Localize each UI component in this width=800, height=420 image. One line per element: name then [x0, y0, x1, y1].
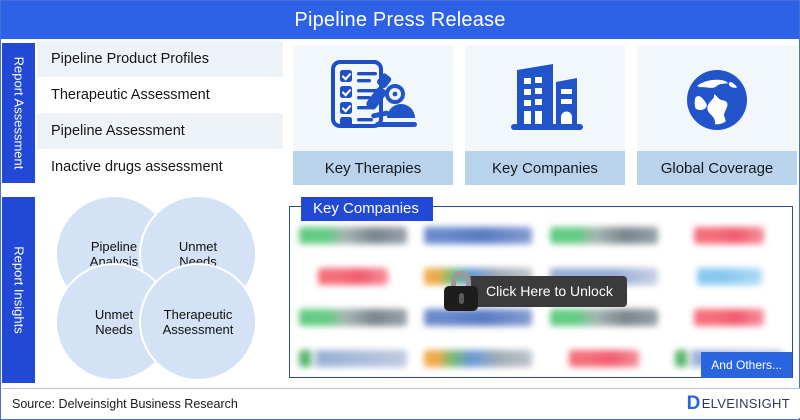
globe-icon [637, 45, 797, 151]
card-key-therapies[interactable]: Key Therapies [293, 45, 453, 185]
company-logo [424, 350, 532, 367]
list-item-label: Pipeline Assessment [51, 123, 185, 139]
company-logo [694, 309, 764, 326]
page-title: Pipeline Press Release [294, 9, 505, 32]
brand-name: ELVEINSIGHT [702, 396, 790, 411]
company-logo [424, 309, 532, 326]
company-logo [299, 227, 407, 244]
list-item-label: Inactive drugs assessment [51, 159, 223, 175]
section-tab-report-assessment: Report Assessment [2, 43, 35, 183]
card-key-companies[interactable]: Key Companies [465, 45, 625, 185]
unlock-overlay[interactable]: Click Here to Unlock [442, 271, 627, 311]
venn-circle-line1: Unmet [95, 307, 133, 322]
company-logo [694, 227, 764, 244]
list-item[interactable]: Pipeline Assessment [37, 113, 283, 149]
company-logo [299, 309, 407, 326]
report-assessment-list: Pipeline Product Profiles Therapeutic As… [37, 41, 283, 185]
venn-circle-line2: Assessment [163, 322, 234, 337]
company-logo [424, 227, 532, 244]
padlock-icon [442, 271, 480, 311]
company-logo [299, 350, 407, 367]
section-tab-report-assessment-label: Report Assessment [12, 57, 26, 170]
list-item[interactable]: Therapeutic Assessment [37, 77, 283, 113]
and-others-badge[interactable]: And Others... [701, 352, 792, 378]
press-release-page: Pipeline Press Release Report Assessment… [0, 0, 800, 420]
company-logo [550, 227, 658, 244]
microscope-checklist-icon [293, 45, 453, 151]
buildings-icon [465, 45, 625, 151]
section-tab-report-insights: Report Insights [2, 197, 35, 383]
feature-cards: Key Therapies [293, 45, 797, 185]
company-logo [550, 309, 658, 326]
report-insights-venn: Pipeline Analysis Unmet Needs Unmet Need… [41, 193, 281, 385]
unlock-label[interactable]: Click Here to Unlock [468, 276, 627, 307]
company-logo [318, 268, 388, 285]
venn-circle-line1: Unmet [179, 239, 217, 254]
list-item-label: Therapeutic Assessment [51, 87, 210, 103]
list-item[interactable]: Inactive drugs assessment [37, 149, 283, 185]
key-companies-panel: Click Here to Unlock And Others... [289, 206, 793, 378]
card-key-companies-label: Key Companies [465, 151, 625, 185]
list-item-label: Pipeline Product Profiles [51, 51, 209, 67]
source-text: Source: Delveinsight Business Research [12, 397, 238, 411]
page-header: Pipeline Press Release [1, 1, 799, 39]
page-footer: Source: Delveinsight Business Research D… [2, 388, 800, 418]
card-key-therapies-label: Key Therapies [293, 151, 453, 185]
list-item[interactable]: Pipeline Product Profiles [37, 41, 283, 77]
card-global-coverage-label: Global Coverage [637, 151, 797, 185]
company-logo [697, 268, 762, 285]
venn-circle-line1: Therapeutic [163, 307, 234, 322]
venn-circle: Therapeutic Assessment [139, 263, 257, 381]
delveinsight-logo: D ELVEINSIGHT [687, 396, 790, 412]
brand-initial: D [687, 396, 701, 412]
card-global-coverage[interactable]: Global Coverage [637, 45, 797, 185]
key-companies-panel-tab[interactable]: Key Companies [301, 197, 433, 221]
venn-circle-line1: Pipeline [90, 239, 138, 254]
company-logo [569, 350, 639, 367]
section-tab-report-insights-label: Report Insights [12, 246, 26, 333]
venn-circle-line2: Needs [95, 322, 133, 337]
